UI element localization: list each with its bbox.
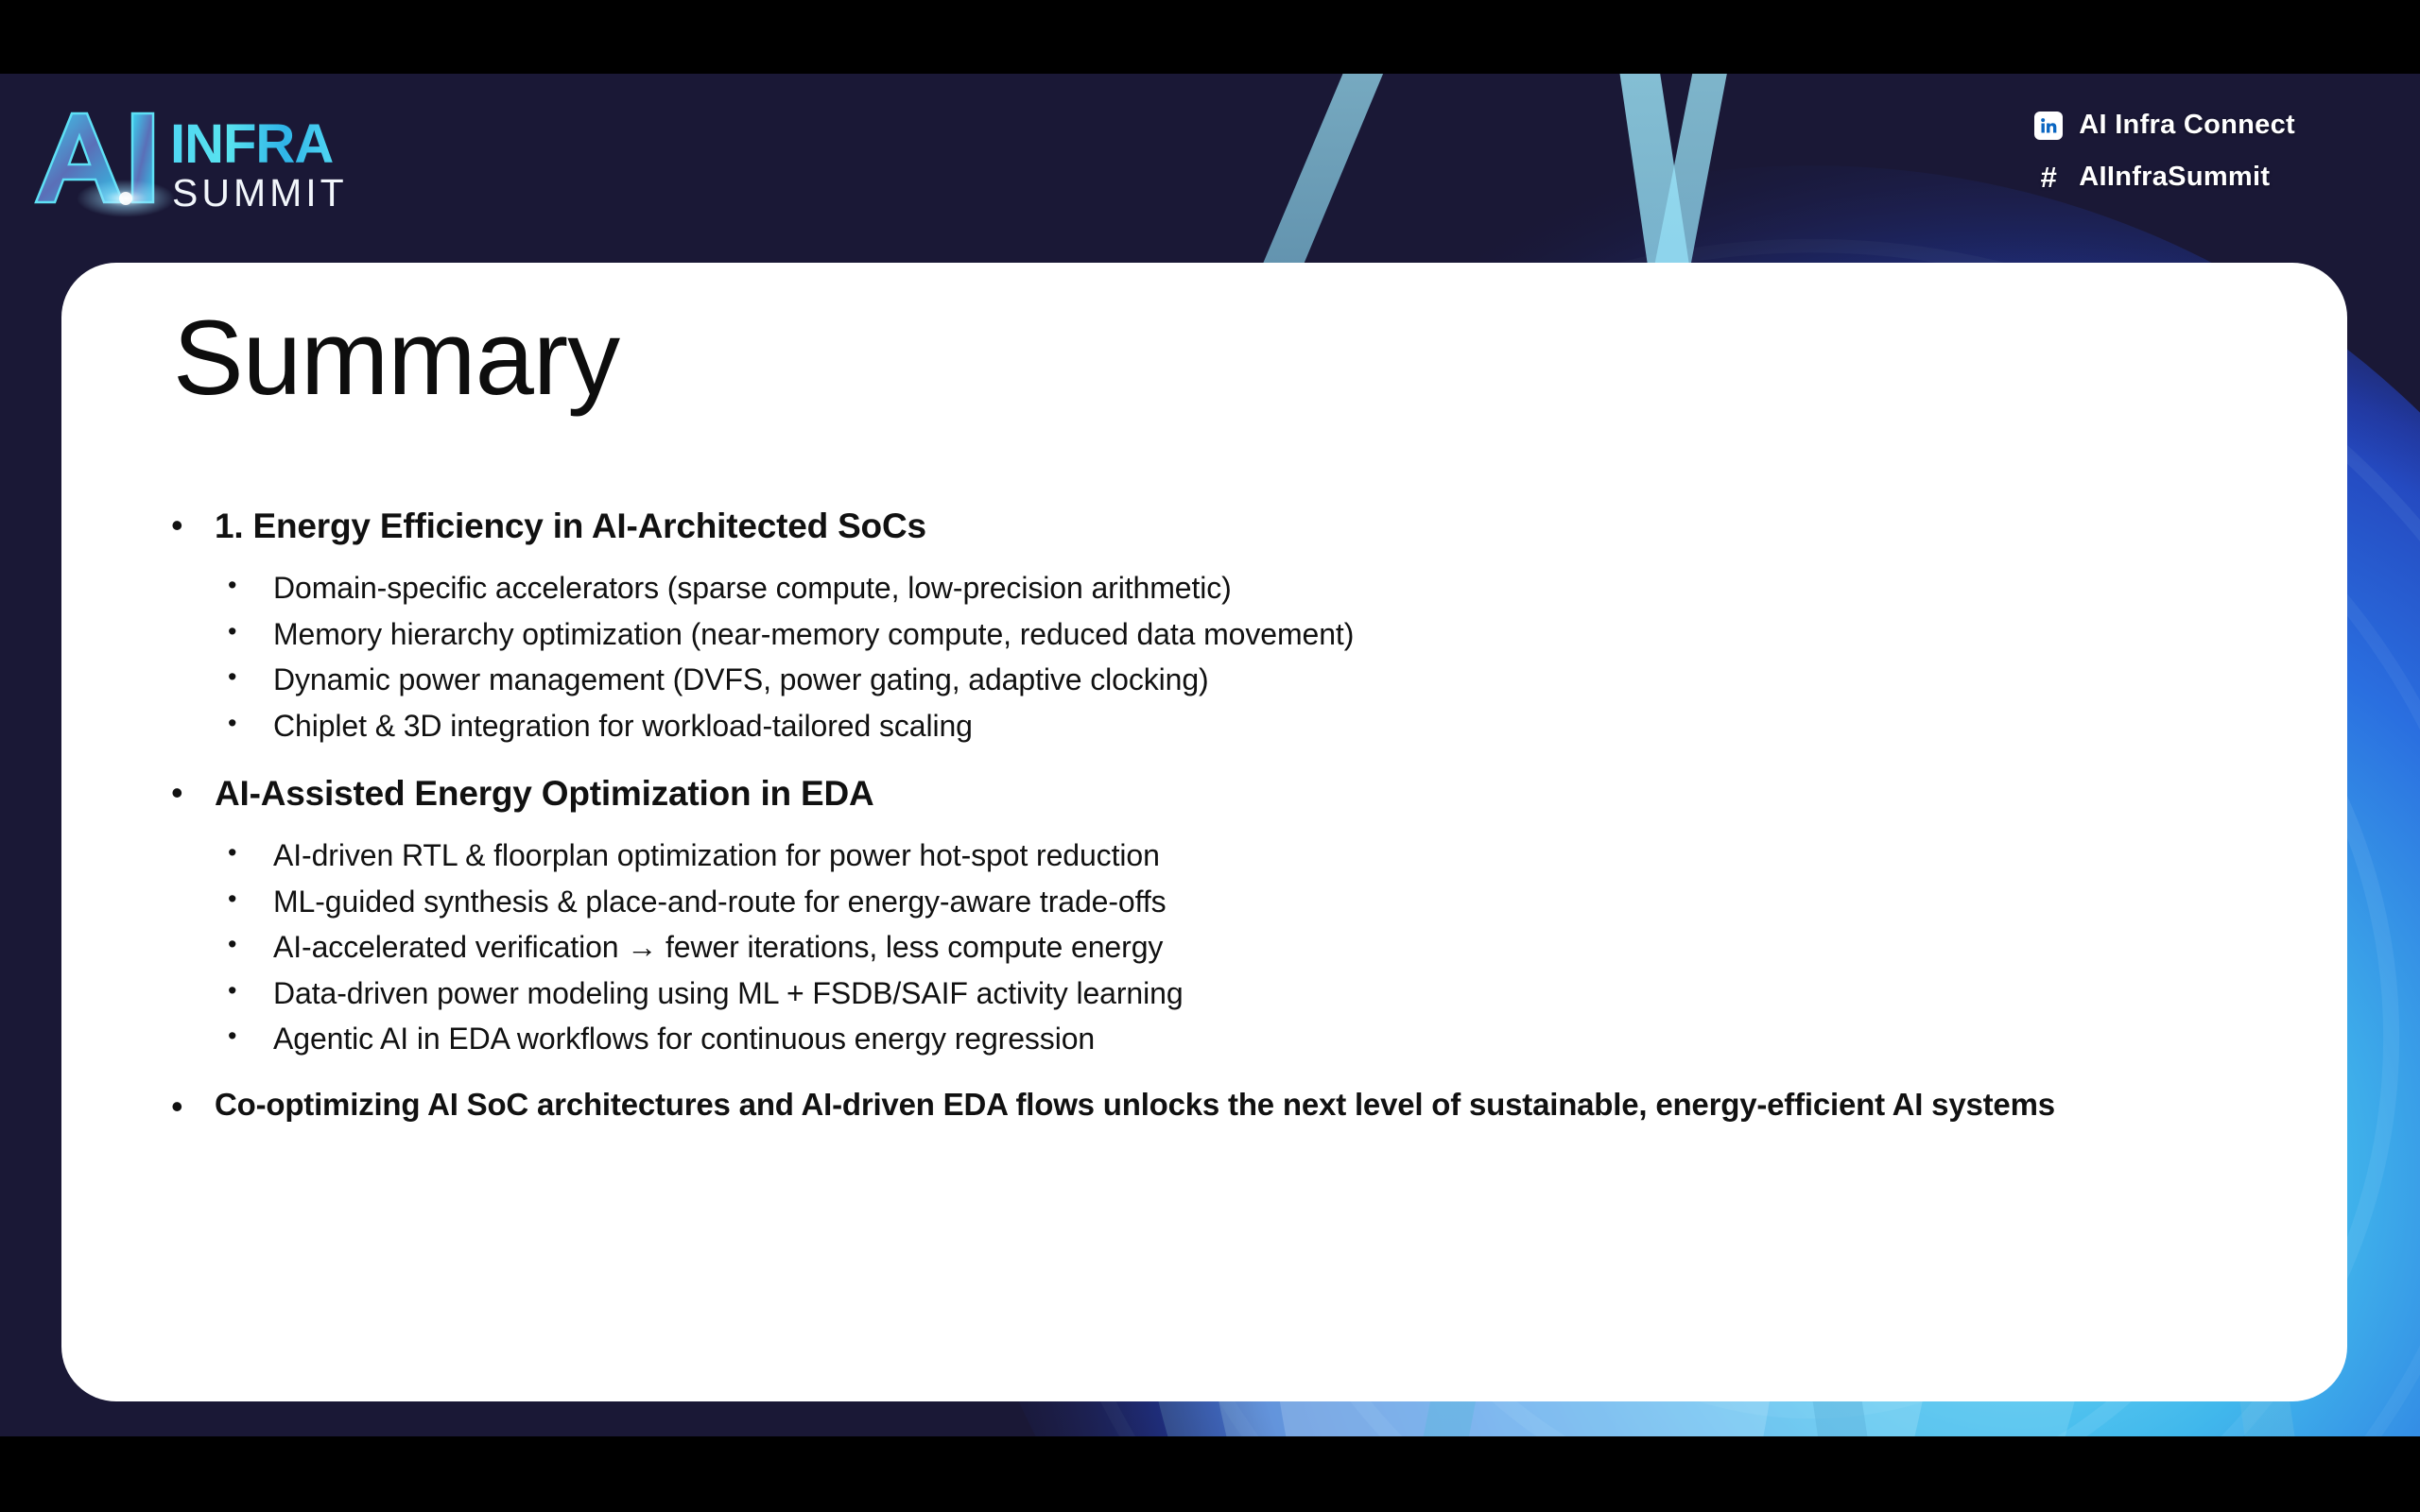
linkedin-icon [2034,112,2063,140]
section-2-item-4: Agentic AI in EDA workflows for continuo… [273,1018,1095,1060]
bullet-glyph: • [228,881,273,917]
bullet-glyph: • [165,771,215,815]
section-1-heading: 1. Energy Efficiency in AI-Architected S… [215,504,926,548]
section-2-item-0: AI-driven RTL & floorplan optimization f… [273,834,1160,877]
ai-infra-summit-logo: INFRA SUMMIT [28,104,425,217]
bullet-glyph: • [228,613,273,649]
bullet-glyph: • [228,705,273,741]
list-item: • Agentic AI in EDA workflows for contin… [165,1018,2290,1060]
section-heading: • AI-Assisted Energy Optimization in EDA [165,771,2290,816]
bullet-glyph: • [228,659,273,695]
section-1-item-2: Dynamic power management (DVFS, power ga… [273,659,1209,701]
list-item: • Memory hierarchy optimization (near-me… [165,613,2290,656]
bullet-glyph: • [228,1018,273,1054]
section-2-item-1: ML-guided synthesis & place-and-route fo… [273,881,1167,923]
linkedin-label: AI Infra Connect [2079,110,2295,141]
linkedin-handle[interactable]: AI Infra Connect [2034,110,2295,141]
section-1-item-3: Chiplet & 3D integration for workload-ta… [273,705,973,747]
slide-body: • 1. Energy Efficiency in AI-Architected… [165,504,2290,1134]
page-title: Summary [173,305,619,411]
bullet-glyph: • [165,504,215,547]
list-item: • ML-guided synthesis & place-and-route … [165,881,2290,923]
bullet-glyph: • [228,972,273,1008]
section-2-item-2: AI-accelerated verification → fewer iter… [273,926,1163,969]
section-1-item-0: Domain-specific accelerators (sparse com… [273,567,1232,610]
bullet-glyph: • [228,926,273,962]
logo-svg: INFRA SUMMIT [28,104,425,217]
slide-canvas: INFRA SUMMIT AI Infra Connect [0,74,2420,1436]
list-item: • Data-driven power modeling using ML + … [165,972,2290,1015]
logo-summit-text: SUMMIT [172,171,348,215]
list-item: • Chiplet & 3D integration for workload-… [165,705,2290,747]
bullet-glyph: • [228,834,273,870]
section-heading: • 1. Energy Efficiency in AI-Architected… [165,504,2290,548]
list-item: • Dynamic power management (DVFS, power … [165,659,2290,701]
section-2-heading: AI-Assisted Energy Optimization in EDA [215,771,874,816]
slide-stage: INFRA SUMMIT AI Infra Connect [0,0,2420,1512]
list-item: • AI-driven RTL & floorplan optimization… [165,834,2290,877]
bullet-glyph: • [165,1085,215,1128]
social-handles: AI Infra Connect # AIInfraSummit [2034,110,2295,193]
hashtag-label: AIInfraSummit [2079,162,2270,193]
content-card: Summary • 1. Energy Efficiency in AI-Arc… [61,263,2347,1401]
logo-infra-text: INFRA [170,113,333,175]
hash-icon: # [2034,163,2063,192]
closing-text: Co-optimizing AI SoC architectures and A… [215,1085,2055,1125]
section-2-item-3: Data-driven power modeling using ML + FS… [273,972,1184,1015]
list-item: • Domain-specific accelerators (sparse c… [165,567,2290,610]
hashtag-handle[interactable]: # AIInfraSummit [2034,162,2270,193]
section-1-item-1: Memory hierarchy optimization (near-memo… [273,613,1354,656]
bullet-glyph: • [228,567,273,603]
list-item: • AI-accelerated verification → fewer it… [165,926,2290,969]
closing-statement: • Co-optimizing AI SoC architectures and… [165,1085,2290,1128]
